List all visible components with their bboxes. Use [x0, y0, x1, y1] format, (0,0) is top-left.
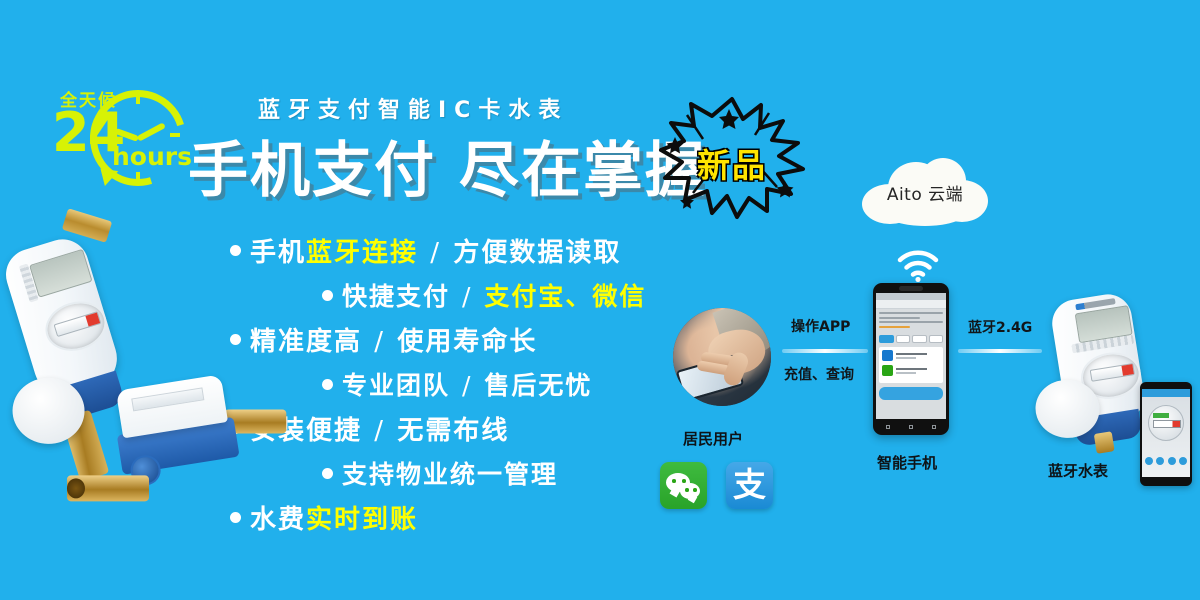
label-bluetooth-water-meter: 蓝牙水表 [1048, 460, 1108, 481]
phone-speaker [899, 286, 923, 291]
clock-tick-bottom [136, 172, 140, 182]
feature-plain: / [450, 282, 484, 311]
phone-screen [876, 293, 946, 419]
feature-item: 专业团队 / 售后无忧 [230, 366, 700, 402]
feature-item: 精准度高 / 使用寿命长 [230, 321, 700, 358]
cloud-node: Aito 云端 [862, 158, 988, 226]
clock-tick-right [170, 133, 180, 137]
promo-banner: 全天候 24 hours 蓝牙支付智能IC卡水表 手机支付 尽在掌握 新品 手机… [0, 0, 1200, 600]
bullet-dot-icon [322, 468, 333, 479]
meter-app-toolbar[interactable] [1145, 457, 1187, 465]
feature-plain: 专业团队 [342, 371, 450, 400]
feature-plain: 使用寿命长 [397, 327, 537, 357]
feature-text: 精准度高 / 使用寿命长 [250, 321, 537, 358]
feature-text: 快捷支付 / 支付宝、微信 [342, 277, 646, 313]
feature-highlight: 实时到账 [306, 505, 418, 535]
meter-label-plate [131, 387, 204, 411]
meter-app-dial [1148, 405, 1184, 441]
meter-dial-window [39, 294, 112, 358]
feature-highlight: 支付宝、微信 [484, 282, 646, 311]
phone-status-bar [876, 293, 946, 300]
new-product-badge: 新品 [657, 95, 807, 220]
confirm-pay-button[interactable] [879, 387, 943, 400]
wifi-icon [896, 248, 940, 282]
feature-text: 安装便捷 / 无需布线 [250, 410, 509, 447]
app-button-3[interactable] [912, 335, 927, 343]
bullet-dot-icon [322, 379, 333, 390]
app-tool-4-icon[interactable] [1179, 457, 1187, 465]
label-smartphone: 智能手机 [877, 452, 937, 473]
label-bluetooth-24g: 蓝牙2.4G [968, 317, 1032, 337]
meter-app-screen [1142, 389, 1190, 477]
feature-plain: / [450, 371, 484, 400]
app-tool-3-icon[interactable] [1168, 457, 1176, 465]
nav-back-icon[interactable] [886, 425, 890, 429]
feature-list: 手机蓝牙连接 / 方便数据读取快捷支付 / 支付宝、微信精准度高 / 使用寿命长… [230, 232, 700, 544]
feature-highlight: 蓝牙连接 [306, 238, 418, 268]
wechat-pay-icon[interactable] [660, 462, 707, 509]
cloud-label: Aito 云端 [862, 180, 988, 205]
app-header [876, 300, 946, 309]
feature-plain: / [362, 416, 397, 446]
nav-recents-icon[interactable] [932, 425, 936, 429]
brass-pipe-left [67, 475, 149, 501]
alipay-option-row[interactable] [882, 350, 940, 361]
feature-plain: 无需布线 [397, 416, 509, 446]
alipay-icon[interactable]: 支 [726, 462, 773, 509]
wechat-option-row[interactable] [882, 365, 940, 376]
brass-fitting-top [62, 208, 112, 242]
nav-home-icon[interactable] [909, 425, 913, 429]
payment-method-card [879, 347, 943, 383]
app-button-1[interactable] [879, 335, 894, 343]
label-recharge-query: 充值、查询 [784, 364, 854, 384]
meter-lcd-screen [29, 249, 92, 298]
feature-item: 支持物业统一管理 [230, 455, 700, 491]
24-hours-badge: 全天候 24 hours [52, 86, 204, 194]
connector-line-user-phone [782, 349, 868, 353]
smartphone-device [873, 283, 949, 435]
app-tool-2-icon[interactable] [1156, 457, 1164, 465]
feature-item: 手机蓝牙连接 / 方便数据读取 [230, 232, 700, 269]
badge-unit: hours [112, 144, 192, 169]
bullet-dot-icon [322, 290, 333, 301]
meter-odometer [1090, 363, 1135, 382]
bullet-dot-icon [230, 334, 241, 345]
user-hand-photo [673, 308, 771, 406]
app-tool-1-icon[interactable] [1145, 457, 1153, 465]
feature-plain: 售后无忧 [484, 371, 592, 400]
feature-plain: / [418, 238, 453, 268]
clock-tick-top [136, 94, 140, 104]
label-operate-app: 操作APP [791, 316, 850, 336]
feature-item: 水费实时到账 [230, 499, 700, 536]
alipay-icon [882, 350, 893, 361]
account-info-block [876, 309, 946, 333]
wechat-pay-icon [882, 365, 893, 376]
new-product-label: 新品 [657, 139, 807, 187]
meter-odometer [54, 311, 102, 337]
feature-plain: 快捷支付 [342, 282, 450, 311]
feature-plain: 支持物业统一管理 [342, 460, 558, 489]
app-action-buttons[interactable] [876, 335, 946, 343]
app-button-2[interactable] [896, 335, 911, 343]
feature-plain: 手机 [250, 238, 306, 268]
feature-plain: / [362, 327, 397, 357]
meter-app-header [1142, 389, 1190, 397]
feature-item: 安装便捷 / 无需布线 [230, 410, 700, 447]
feature-plain: 方便数据读取 [453, 238, 621, 268]
label-resident-user: 居民用户 [683, 428, 743, 449]
feature-item: 快捷支付 / 支付宝、微信 [230, 277, 700, 313]
feature-text: 支持物业统一管理 [342, 455, 558, 491]
feature-plain: 精准度高 [250, 327, 362, 357]
brass-fitting [1094, 431, 1115, 454]
connector-line-phone-meter [958, 349, 1042, 353]
bullet-dot-icon [230, 245, 241, 256]
page-title: 手机支付 尽在掌握 [188, 122, 707, 209]
app-button-4[interactable] [929, 335, 944, 343]
meter-app-phone [1140, 382, 1192, 486]
phone-nav-bar[interactable] [876, 422, 946, 432]
feature-text: 手机蓝牙连接 / 方便数据读取 [250, 232, 621, 269]
feature-text: 专业团队 / 售后无忧 [342, 366, 592, 402]
alipay-glyph: 支 [733, 468, 766, 501]
banner-subtitle: 蓝牙支付智能IC卡水表 [258, 92, 568, 124]
payment-icons-group: 支 [660, 462, 773, 509]
